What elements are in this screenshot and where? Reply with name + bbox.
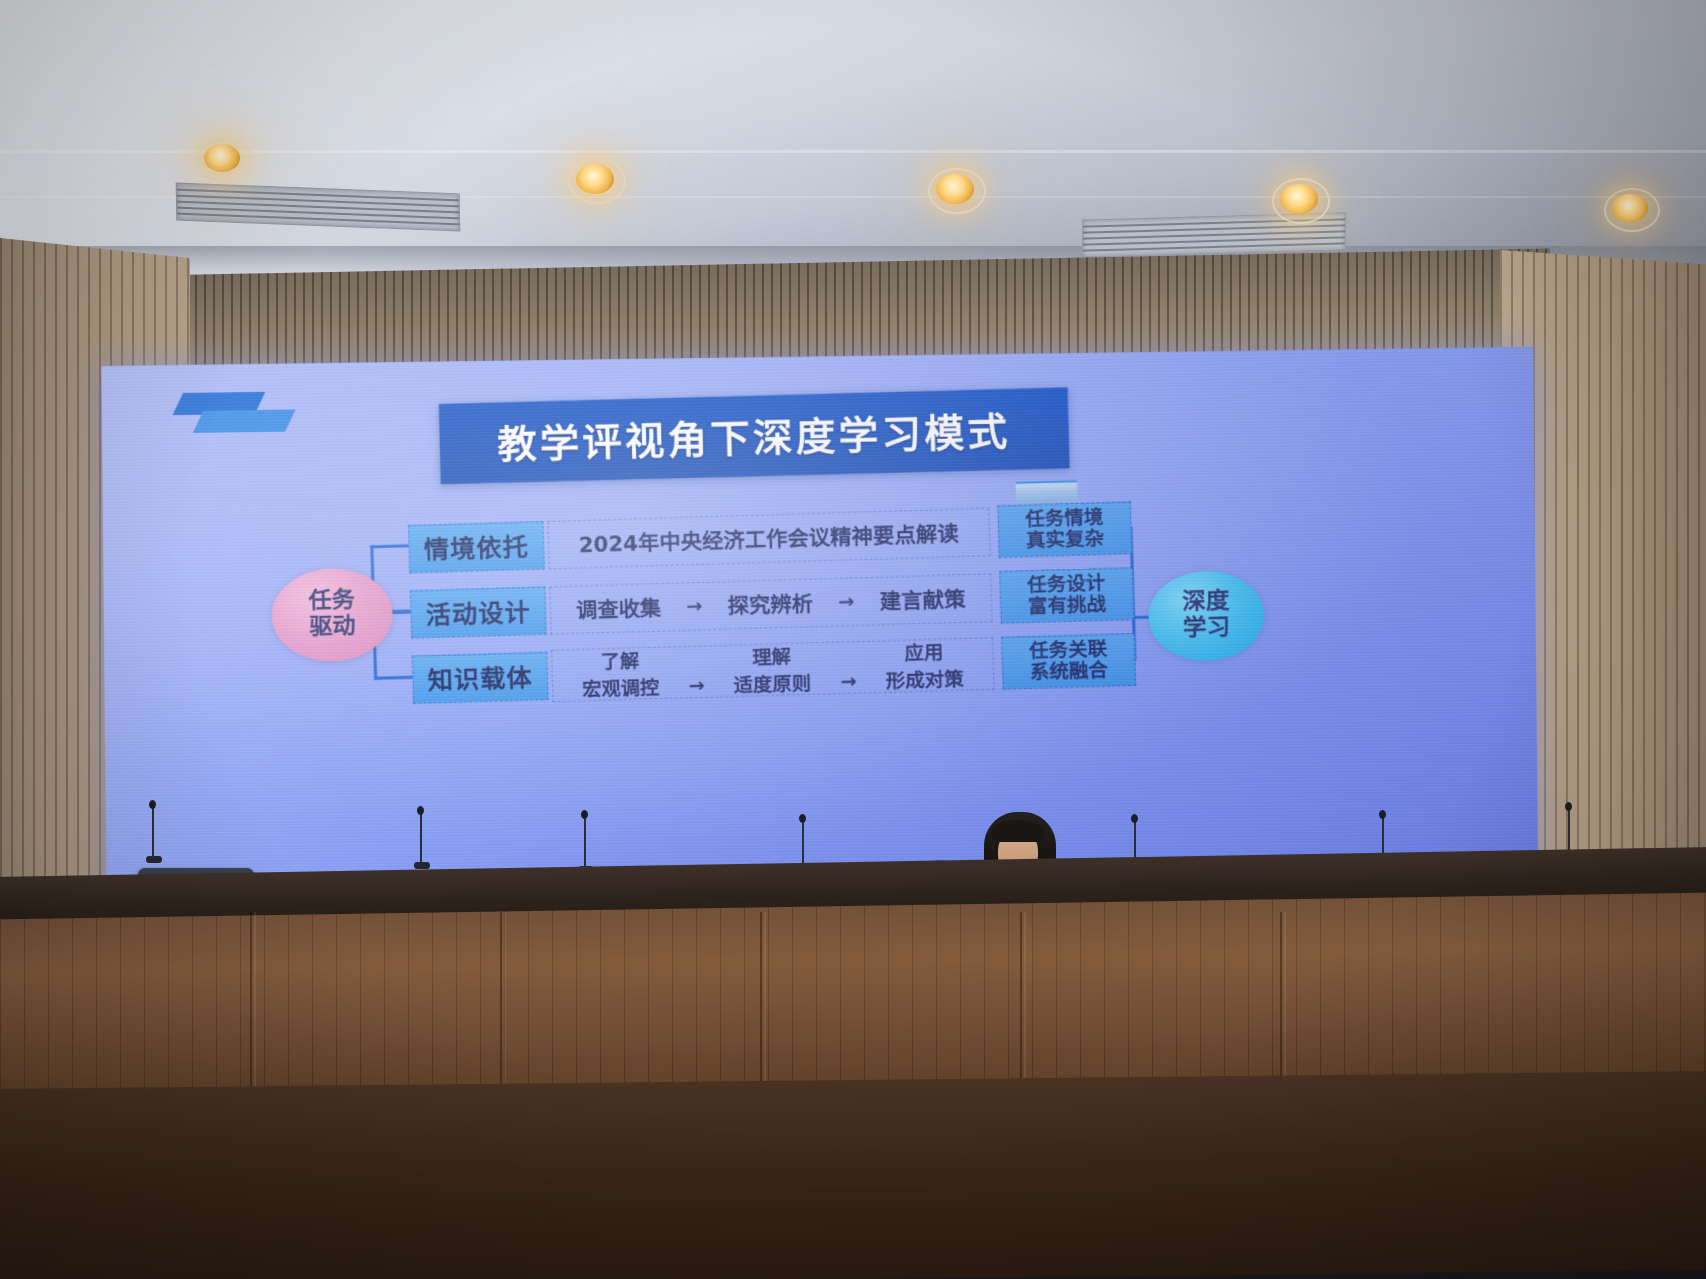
ceiling-step-1: [0, 150, 1706, 153]
downlight-5: [1612, 194, 1648, 222]
led-screen: 教学评视角下深度学习模式: [101, 347, 1538, 906]
mic-head-7: [1565, 802, 1572, 811]
screenshot-root: 教学评视角下深度学习模式: [0, 0, 1706, 1279]
desk-seam-3: [760, 912, 766, 1090]
mic-stem-3: [584, 816, 586, 868]
mic-head-2: [417, 806, 424, 815]
downlight-4: [1280, 184, 1318, 214]
mic-head-6: [1379, 810, 1386, 819]
presenter-hair-front: [992, 820, 1044, 842]
mic-head-3: [581, 810, 588, 819]
led-screen-wrap: 教学评视角下深度学习模式: [104, 366, 1508, 906]
mic-stem-2: [420, 812, 422, 864]
mic-base-1: [146, 856, 162, 863]
downlight-1: [204, 144, 240, 172]
desk-base: [0, 1071, 1706, 1279]
mic-head-1: [149, 800, 156, 809]
desk-seam-1: [250, 912, 256, 1090]
mic-head-4: [799, 814, 806, 823]
desk-seam-4: [1020, 912, 1026, 1090]
downlight-2: [576, 164, 614, 194]
mic-stem-1: [152, 806, 154, 858]
desk-seam-2: [500, 912, 506, 1090]
downlight-3: [936, 174, 974, 204]
desk-seam-5: [1280, 912, 1286, 1090]
mic-head-5: [1131, 814, 1138, 823]
mic-base-2: [414, 862, 430, 869]
led-vignette: [101, 347, 1538, 906]
